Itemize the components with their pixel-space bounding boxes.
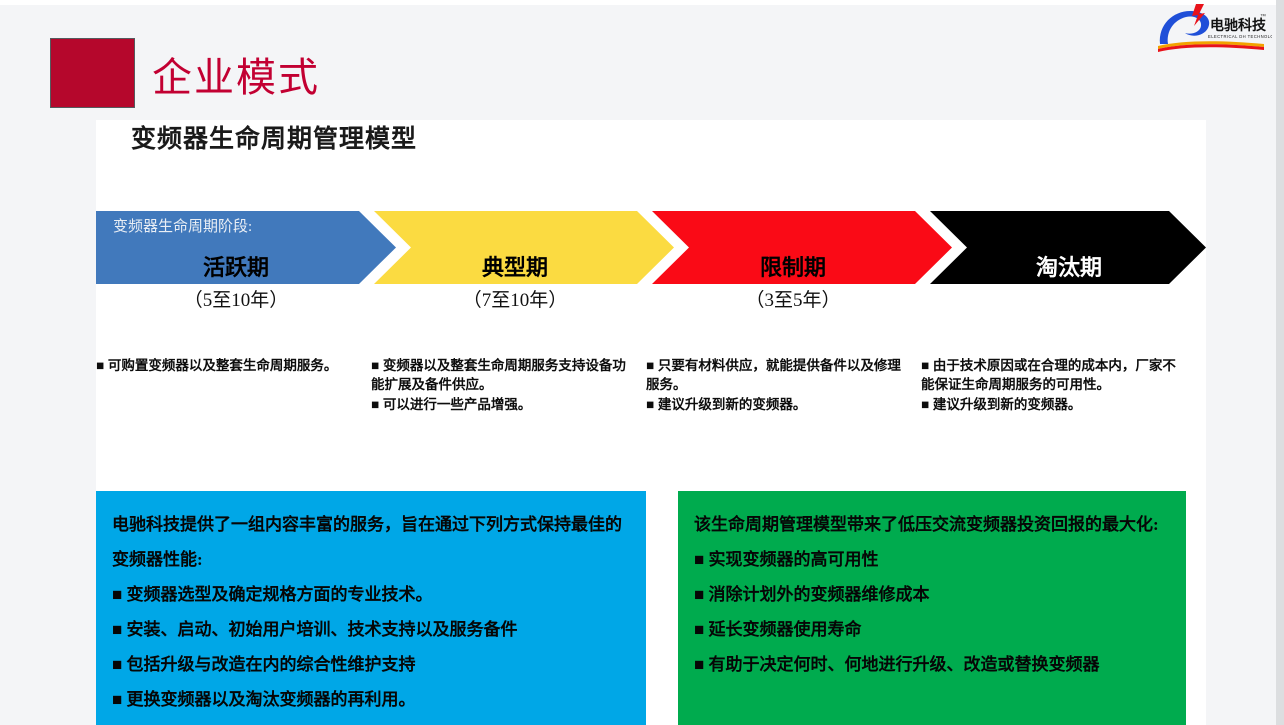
callout-green-bullet: ■ 实现变频器的高可用性 bbox=[694, 542, 1172, 577]
callout-blue-bullet: ■ 包括升级与改造在内的综合性维护支持 bbox=[112, 647, 632, 682]
benefits-callout-green: 该生命周期管理模型带来了低压交流变频器投资回报的最大化:■ 实现变频器的高可用性… bbox=[678, 491, 1186, 725]
logo-tm-mark: ™ bbox=[1260, 13, 1266, 20]
logo-cn-text: 电驰科技 bbox=[1210, 17, 1267, 34]
services-callout-blue: 电驰科技提供了一组内容丰富的服务，旨在通过下列方式保持最佳的变频器性能:■ 变频… bbox=[96, 491, 646, 725]
stage-years-1: （5至10年） bbox=[96, 285, 376, 312]
callout-green-bullet: ■ 消除计划外的变频器维修成本 bbox=[694, 577, 1172, 612]
stage-caption-label: 变频器生命周期阶段: bbox=[113, 215, 252, 236]
top-white-strip bbox=[0, 0, 1284, 5]
stage-bullet: ■ 建议升级到新的变频器。 bbox=[646, 395, 905, 414]
stage-detail-column-1: ■ 可购置变频器以及整套生命周期服务。 bbox=[96, 356, 355, 466]
stage-name-1: 活跃期 bbox=[96, 250, 376, 282]
callout-blue-bullet: ■ 变频器选型及确定规格方面的专业技术。 bbox=[112, 577, 632, 612]
stage-bullet: ■ 建议升级到新的变频器。 bbox=[921, 395, 1180, 414]
stage-bullet: ■ 由于技术原因或在合理的成本内，厂家不能保证生命周期服务的可用性。 bbox=[921, 356, 1180, 394]
callout-blue-lead: 电驰科技提供了一组内容丰富的服务，旨在通过下列方式保持最佳的变频器性能: bbox=[112, 507, 632, 577]
stage-bullet: ■ 变频器以及整套生命周期服务支持设备功能扩展及备件供应。 bbox=[371, 356, 630, 394]
stage-bullet: ■ 只要有材料供应，就能提供备件以及修理服务。 bbox=[646, 356, 905, 394]
header-red-accent-fill bbox=[51, 39, 134, 92]
stage-detail-column-2: ■ 变频器以及整套生命周期服务支持设备功能扩展及备件供应。 ■ 可以进行一些产品… bbox=[371, 356, 630, 466]
slide-canvas: 企业模式 电驰科技 ELECTRICAL DH TECHNOLOGY ™ 变频器… bbox=[0, 0, 1284, 725]
callout-blue-bullet: ■ 更换变频器以及淘汰变频器的再利用。 bbox=[112, 682, 632, 717]
callout-green-lead: 该生命周期管理模型带来了低压交流变频器投资回报的最大化: bbox=[694, 507, 1172, 542]
stage-years-2: （7至10年） bbox=[376, 285, 654, 312]
company-logo-svg: 电驰科技 ELECTRICAL DH TECHNOLOGY ™ bbox=[1152, 2, 1272, 52]
stage-name-4: 淘汰期 bbox=[932, 250, 1206, 282]
page-title: 企业模式 bbox=[152, 45, 320, 103]
stage-detail-columns: ■ 可购置变频器以及整套生命周期服务。 ■ 变频器以及整套生命周期服务支持设备功… bbox=[96, 356, 1196, 466]
stage-detail-column-4: ■ 由于技术原因或在合理的成本内，厂家不能保证生命周期服务的可用性。 ■ 建议升… bbox=[921, 356, 1180, 466]
vertical-scrollbar[interactable] bbox=[1276, 0, 1284, 725]
callout-blue-bullet: ■ 安装、启动、初始用户培训、技术支持以及服务备件 bbox=[112, 612, 632, 647]
company-logo: 电驰科技 ELECTRICAL DH TECHNOLOGY ™ bbox=[1152, 2, 1272, 52]
stage-bullet: ■ 可以进行一些产品增强。 bbox=[371, 395, 630, 414]
stage-years-3: （3至5年） bbox=[654, 285, 932, 312]
right-gutter bbox=[1206, 120, 1276, 725]
stage-name-2: 典型期 bbox=[376, 250, 654, 282]
stage-name-3: 限制期 bbox=[654, 250, 932, 282]
header-red-accent-box bbox=[50, 38, 135, 108]
callout-green-bullet: ■ 延长变频器使用寿命 bbox=[694, 612, 1172, 647]
stage-detail-column-3: ■ 只要有材料供应，就能提供备件以及修理服务。 ■ 建议升级到新的变频器。 bbox=[646, 356, 905, 466]
stage-bullet: ■ 可购置变频器以及整套生命周期服务。 bbox=[96, 356, 355, 375]
model-title: 变频器生命周期管理模型 bbox=[131, 119, 417, 155]
callout-green-bullet: ■ 有助于决定何时、何地进行升级、改造或替换变频器 bbox=[694, 647, 1172, 682]
logo-en-text: ELECTRICAL DH TECHNOLOGY bbox=[1208, 34, 1272, 39]
